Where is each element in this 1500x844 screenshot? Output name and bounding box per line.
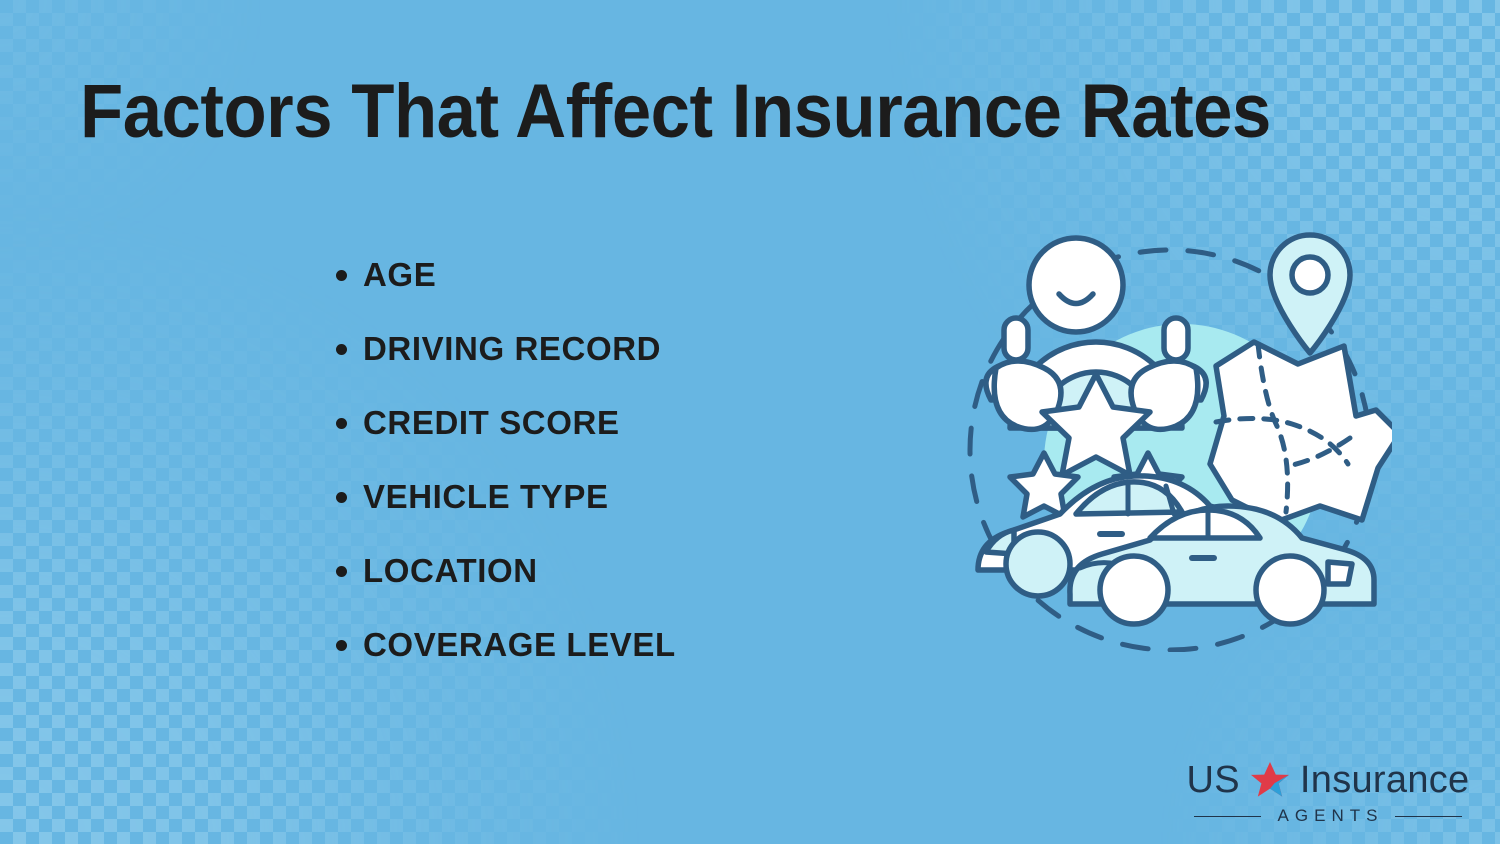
list-item-label: LOCATION bbox=[363, 552, 538, 590]
auto-insurance-factors-illustration bbox=[952, 222, 1392, 652]
bullet-dot-icon bbox=[336, 344, 347, 355]
brand-logo[interactable]: US Insurance AGENTS bbox=[1194, 761, 1462, 826]
logo-rule-left bbox=[1194, 816, 1261, 817]
bullet-dot-icon bbox=[336, 640, 347, 651]
logo-rule-right bbox=[1395, 816, 1462, 817]
list-item: AGE bbox=[336, 238, 676, 312]
bullet-dot-icon bbox=[336, 566, 347, 577]
list-item: LOCATION bbox=[336, 534, 676, 608]
logo-primary-line: US Insurance bbox=[1194, 761, 1462, 799]
star-icon bbox=[1250, 761, 1290, 799]
list-item-label: DRIVING RECORD bbox=[363, 330, 661, 368]
list-item-label: AGE bbox=[363, 256, 436, 294]
list-item-label: COVERAGE LEVEL bbox=[363, 626, 676, 664]
list-item: DRIVING RECORD bbox=[336, 312, 676, 386]
list-item: CREDIT SCORE bbox=[336, 386, 676, 460]
bullet-dot-icon bbox=[336, 270, 347, 281]
smiling-face-icon bbox=[1029, 238, 1123, 332]
logo-us-text: US bbox=[1187, 761, 1240, 799]
list-item-label: VEHICLE TYPE bbox=[363, 478, 609, 516]
folded-map-icon bbox=[1210, 235, 1392, 522]
location-pin-icon bbox=[1270, 235, 1350, 353]
logo-insurance-text: Insurance bbox=[1300, 761, 1470, 799]
bullet-dot-icon bbox=[336, 418, 347, 429]
list-item: VEHICLE TYPE bbox=[336, 460, 676, 534]
factors-list: AGE DRIVING RECORD CREDIT SCORE VEHICLE … bbox=[336, 238, 676, 682]
list-item: COVERAGE LEVEL bbox=[336, 608, 676, 682]
logo-agents-text: AGENTS bbox=[1273, 806, 1384, 826]
infographic-poster: Factors That Affect Insurance Rates AGE … bbox=[0, 0, 1500, 844]
page-title: Factors That Affect Insurance Rates bbox=[80, 74, 1345, 150]
logo-secondary-line: AGENTS bbox=[1194, 806, 1462, 826]
list-item-label: CREDIT SCORE bbox=[363, 404, 620, 442]
bullet-dot-icon bbox=[336, 492, 347, 503]
